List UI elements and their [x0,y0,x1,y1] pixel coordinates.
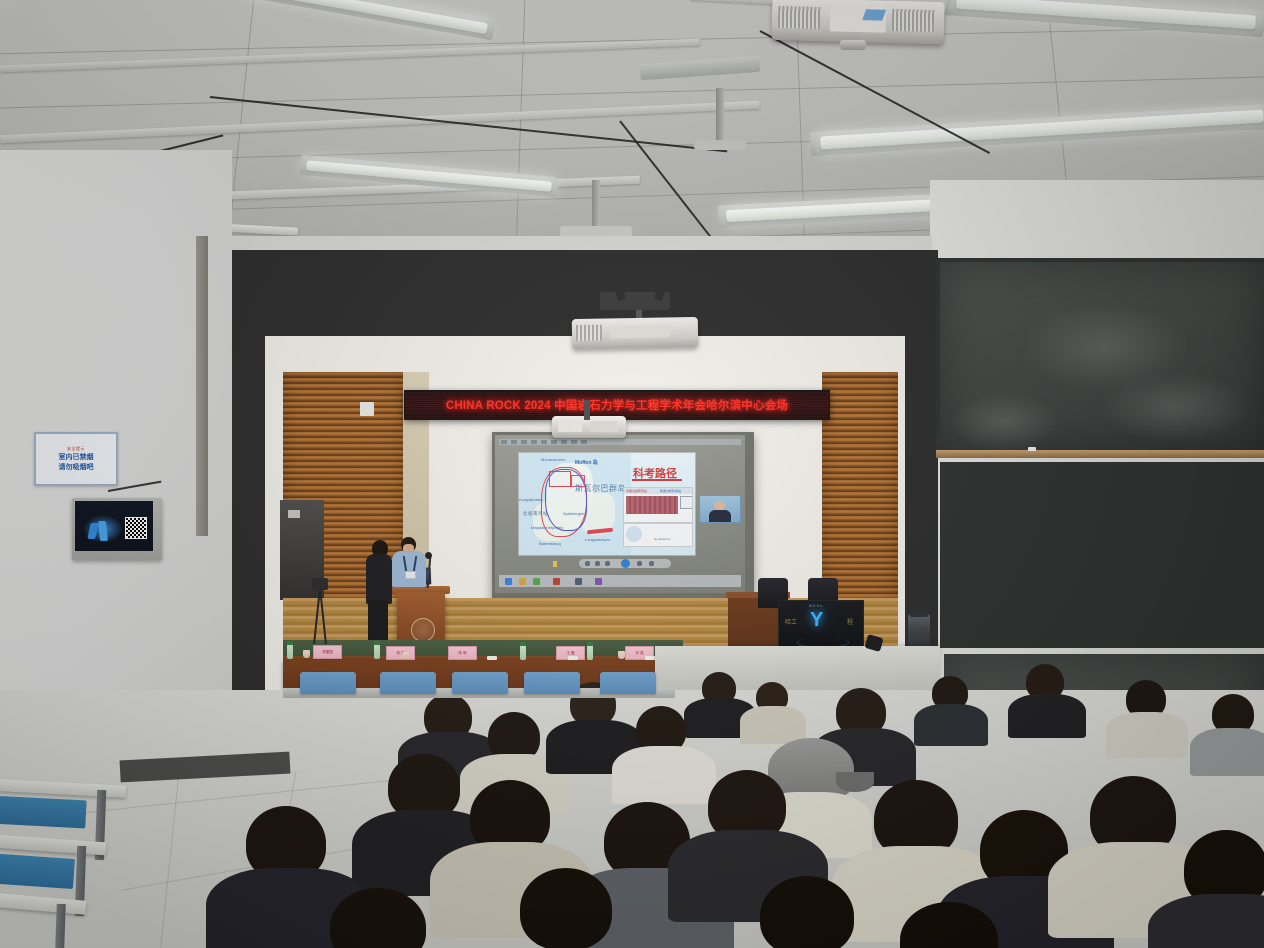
map-label: Kongsfjorden [519,497,543,502]
picture-in-picture-speaker [699,495,741,523]
projection-screen: Monacobreen Moffen 岛 Kongsfjorden Spitsb… [495,435,745,593]
projection-screen-frame: Monacobreen Moffen 岛 Kongsfjorden Spitsb… [492,432,754,602]
poster-line-2: 请勿吸烟吧 [59,462,94,472]
photo-caption: 中国北极黄河站 [626,489,647,493]
map-label: Monacobreen [541,457,565,462]
speaker-torso [392,551,426,587]
os-taskbar[interactable] [499,575,741,587]
sign-top-text: ЖЕНЬ [809,604,823,608]
chalk-tray [936,450,1264,458]
presentation-toolbar[interactable] [579,559,671,568]
auditorium-seat[interactable] [600,672,656,694]
audience-shoulders [740,706,806,744]
audience-shoulders [914,704,988,746]
auditorium-seat[interactable] [300,672,356,694]
audience-shoulders [612,746,716,804]
slide-photo-card-2: Ny-Alesund [623,523,693,547]
map-label: Magdalenefjorden [531,525,563,530]
audience-shoulders [1190,728,1264,776]
audience-shoulders [1008,694,1086,738]
ceiling-pipe [592,180,600,232]
photo-scene: CHINA ROCK 2024 中国岩石力学与工程学术年会哈尔滨中心会场 Mon… [0,0,1264,948]
auditorium-seat[interactable] [524,672,580,694]
map-label: Longyearbyen [585,537,610,542]
audience-section [0,620,1264,948]
assistant-torso [366,554,392,604]
cap-brim [836,772,874,792]
led-banner-text: CHINA ROCK 2024 中国岩石力学与工程学术年会哈尔滨中心会场 [446,397,788,413]
photo-caption: 新奥尔松科考站 [660,489,681,493]
map-label: Barentsburg [539,541,561,546]
info-display-panel[interactable] [72,498,162,560]
projector-bracket [840,40,866,50]
slide-photo-card: 中国北极黄河站 新奥尔松科考站 [623,487,693,523]
safety-notice-poster: 安全提示 室内已禁烟 请勿吸烟吧 [34,432,118,486]
qr-code[interactable] [125,517,147,539]
projector-pole-2 [584,400,590,420]
map-region-label: 斯瓦尔巴群岛 [575,483,626,494]
audience-head [520,868,612,948]
auditorium-seat[interactable] [452,672,508,694]
poster-line-1: 室内已禁烟 [59,452,94,462]
map-label-cn: 北极黄河站 [523,511,548,517]
map-label: Spitsbergen [563,511,584,516]
microphone-head [425,552,432,559]
info-display-screen [75,501,153,551]
door-frame [196,236,208,536]
photo-footer: Ny-Alesund [654,537,670,541]
chalkboard-right [940,262,1264,450]
ceiling-pipe [716,88,724,146]
audience-shoulders [1106,712,1188,758]
stage-projector [572,317,699,349]
audience-head [760,876,854,948]
thermos-cap [910,610,928,617]
rack-panel [288,510,300,518]
tripod-camera [312,578,328,590]
map-label: Moffen 岛 [575,459,598,466]
speaker-badge [405,571,416,579]
ceiling-projector [771,0,944,44]
chalk-piece [1028,447,1036,451]
auditorium-seat[interactable] [380,672,436,694]
ceiling-pipe-cap [694,140,746,150]
desktop-menu-items [501,440,591,444]
presentation-slide: Monacobreen Moffen 岛 Kongsfjorden Spitsb… [519,453,695,555]
wall-switch-plate[interactable] [360,402,374,416]
cursor [553,561,557,567]
